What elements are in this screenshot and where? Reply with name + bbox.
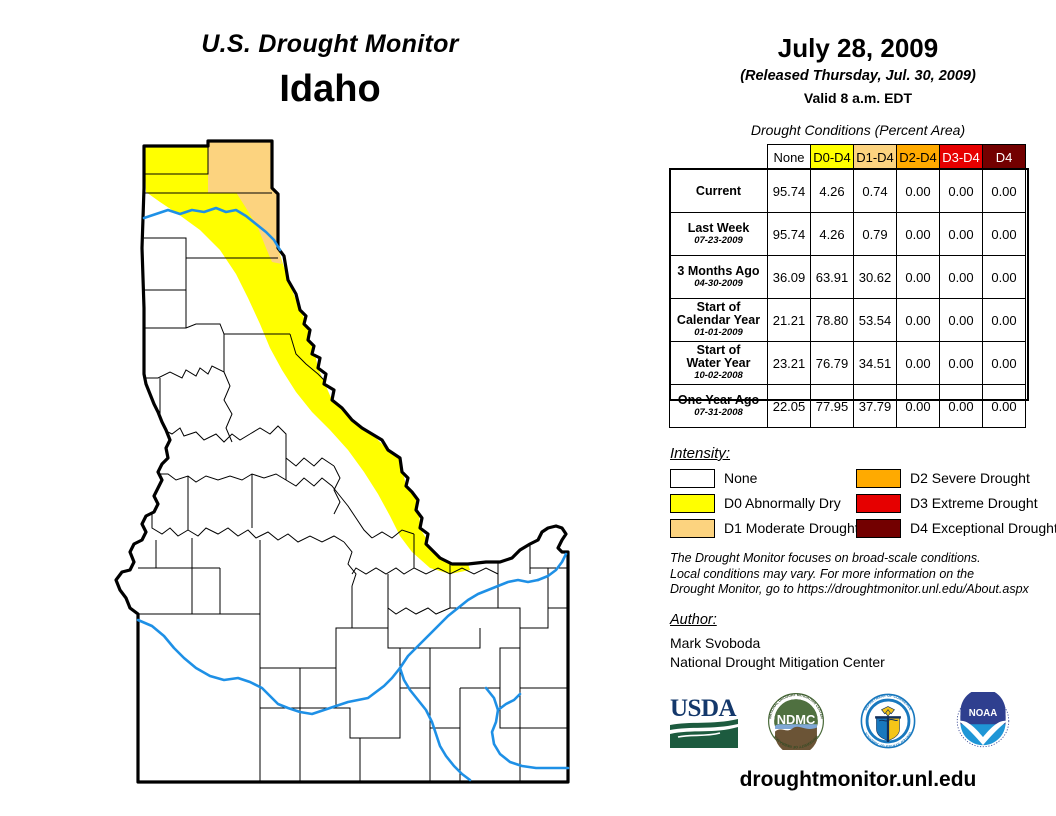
table-cell-none: 95.74 [768,213,811,256]
row-label-date: 07-31-2008 [674,407,763,419]
table-cell-d3-d4: 0.00 [940,170,983,213]
table-cell-d2-d4: 0.00 [897,385,940,428]
disclaimer-line-3: Drought Monitor, go to https://droughtmo… [670,582,1050,598]
intensity-heading: Intensity: [670,445,730,462]
legend-column-left: NoneD0 Abnormally DryD1 Moderate Drought [670,466,859,541]
col-header-d3-d4: D3-D4 [940,145,983,170]
table-cell-d1-d4: 0.79 [854,213,897,256]
legend-item: None [670,466,859,490]
legend-swatch [670,519,715,538]
row-label: Start ofWater Year10-02-2008 [670,342,768,385]
table-row: Start ofCalendar Year01-01-200921.2178.8… [670,299,1026,342]
svg-text:NDMC: NDMC [777,712,816,727]
table-cell-d2-d4: 0.00 [897,342,940,385]
table-cell-d0-d4: 78.80 [811,299,854,342]
table-cell-d0-d4: 63.91 [811,256,854,299]
map-base-fill [100,128,580,800]
ndmc-logo[interactable]: NDMC NATIONAL DROUGHT MITIGATION CENTER … [760,692,832,755]
table-cell-d3-d4: 0.00 [940,385,983,428]
table-row: One Year Ago07-31-200822.0577.9537.790.0… [670,385,1026,428]
table-row: Current95.744.260.740.000.000.00 [670,170,1026,213]
table-cell-none: 22.05 [768,385,811,428]
table-cell-d3-d4: 0.00 [940,299,983,342]
table-row: Last Week07-23-200995.744.260.790.000.00… [670,213,1026,256]
legend-label: None [724,470,757,486]
legend-swatch [856,519,901,538]
table-cell-d2-d4: 0.00 [897,213,940,256]
table-cell-d1-d4: 0.74 [854,170,897,213]
row-label-line: Current [696,184,741,198]
row-label-date: 10-02-2008 [674,370,763,382]
author-name: Mark Svoboda [670,634,1050,653]
legend-swatch [670,469,715,488]
table-cell-none: 36.09 [768,256,811,299]
release-date: (Released Thursday, Jul. 30, 2009) [660,68,1056,84]
drought-conditions-table: None D0-D4 D1-D4 D2-D4 D3-D4 D4 Current9… [669,144,1026,428]
table-header-row: None D0-D4 D1-D4 D2-D4 D3-D4 D4 [670,145,1026,170]
table-cell-d4: 0.00 [983,342,1026,385]
row-label-line: Water Year [674,357,763,370]
table-cell-d0-d4: 4.26 [811,170,854,213]
legend-swatch [856,494,901,513]
noaa-logo[interactable]: NOAA [947,692,1019,755]
col-header-d4: D4 [983,145,1026,170]
legend-item: D3 Extreme Drought [856,491,1056,515]
row-label-date: 01-01-2009 [674,327,763,339]
map-panel: U.S. Drought Monitor Idaho [0,0,660,816]
table-cell-d1-d4: 37.79 [854,385,897,428]
partner-logos: USDA NDMC NATIONAL DROUGHT MITIGA [660,692,1056,770]
svg-text:USDA: USDA [670,695,737,722]
table-cell-d2-d4: 0.00 [897,170,940,213]
table-cell-d0-d4: 76.79 [811,342,854,385]
legend-item: D2 Severe Drought [856,466,1056,490]
table-corner-cell [670,145,768,170]
row-label-date: 07-23-2009 [674,235,763,247]
table-cell-d3-d4: 0.00 [940,256,983,299]
table-cell-d2-d4: 0.00 [897,299,940,342]
legend-label: D1 Moderate Drought [724,520,859,536]
row-label-line: Calendar Year [674,314,763,327]
col-header-d1-d4: D1-D4 [854,145,897,170]
valid-time: Valid 8 a.m. EDT [660,90,1056,106]
website-url[interactable]: droughtmonitor.unl.edu [660,768,1056,792]
row-label-line: Last Week [688,221,750,235]
legend-swatch [670,494,715,513]
legend-label: D4 Exceptional Drought [910,520,1056,536]
page-title: U.S. Drought Monitor [0,30,660,59]
table-cell-d1-d4: 34.51 [854,342,897,385]
legend-item: D1 Moderate Drought [670,516,859,540]
legend-column-right: D2 Severe DroughtD3 Extreme DroughtD4 Ex… [856,466,1056,541]
col-header-d0-d4: D0-D4 [811,145,854,170]
table-row: 3 Months Ago04-30-200936.0963.9130.620.0… [670,256,1026,299]
report-date: July 28, 2009 [660,33,1056,64]
table-cell-none: 21.21 [768,299,811,342]
col-header-d2-d4: D2-D4 [897,145,940,170]
legend-label: D3 Extreme Drought [910,495,1038,511]
table-cell-d4: 0.00 [983,299,1026,342]
table-cell-d3-d4: 0.00 [940,213,983,256]
table-cell-d1-d4: 53.54 [854,299,897,342]
state-title: Idaho [0,68,660,111]
row-label-date: 04-30-2009 [674,278,763,290]
row-label-line: Start of [697,300,741,314]
table-cell-d3-d4: 0.00 [940,342,983,385]
row-label-line: Start of [697,343,741,357]
table-caption: Drought Conditions (Percent Area) [660,122,1056,138]
author-info: Mark Svoboda National Drought Mitigation… [670,634,1050,672]
legend-label: D0 Abnormally Dry [724,495,841,511]
table-cell-none: 23.21 [768,342,811,385]
table-cell-d0-d4: 4.26 [811,213,854,256]
table-cell-d4: 0.00 [983,213,1026,256]
legend-label: D2 Severe Drought [910,470,1030,486]
author-org: National Drought Mitigation Center [670,653,1050,672]
table-cell-d4: 0.00 [983,385,1026,428]
table-cell-d4: 0.00 [983,256,1026,299]
row-label-line: One Year Ago [678,393,759,407]
idaho-drought-map[interactable] [100,128,580,800]
table-row: Start ofWater Year10-02-200823.2176.7934… [670,342,1026,385]
disclaimer-text: The Drought Monitor focuses on broad-sca… [670,551,1050,598]
legend-item: D0 Abnormally Dry [670,491,859,515]
author-heading: Author: [670,612,717,628]
row-label: Last Week07-23-2009 [670,213,768,256]
disclaimer-line-1: The Drought Monitor focuses on broad-sca… [670,551,1050,567]
row-label: One Year Ago07-31-2008 [670,385,768,428]
row-label: Current [670,170,768,213]
table-cell-d0-d4: 77.95 [811,385,854,428]
table-cell-none: 95.74 [768,170,811,213]
disclaimer-line-2: Local conditions may vary. For more info… [670,567,1050,583]
legend-swatch [856,469,901,488]
row-label-line: 3 Months Ago [677,264,759,278]
svg-text:NOAA: NOAA [969,708,997,719]
row-label: Start ofCalendar Year01-01-2009 [670,299,768,342]
legend-item: D4 Exceptional Drought [856,516,1056,540]
info-panel: July 28, 2009 (Released Thursday, Jul. 3… [660,0,1056,816]
department-of-commerce-seal[interactable]: DEPARTMENT OF COMMERCE UNITED STATES OF … [852,692,924,755]
table-cell-d4: 0.00 [983,170,1026,213]
table-cell-d2-d4: 0.00 [897,256,940,299]
row-label: 3 Months Ago04-30-2009 [670,256,768,299]
table-cell-d1-d4: 30.62 [854,256,897,299]
usda-logo[interactable]: USDA [668,692,740,755]
col-header-none: None [768,145,811,170]
